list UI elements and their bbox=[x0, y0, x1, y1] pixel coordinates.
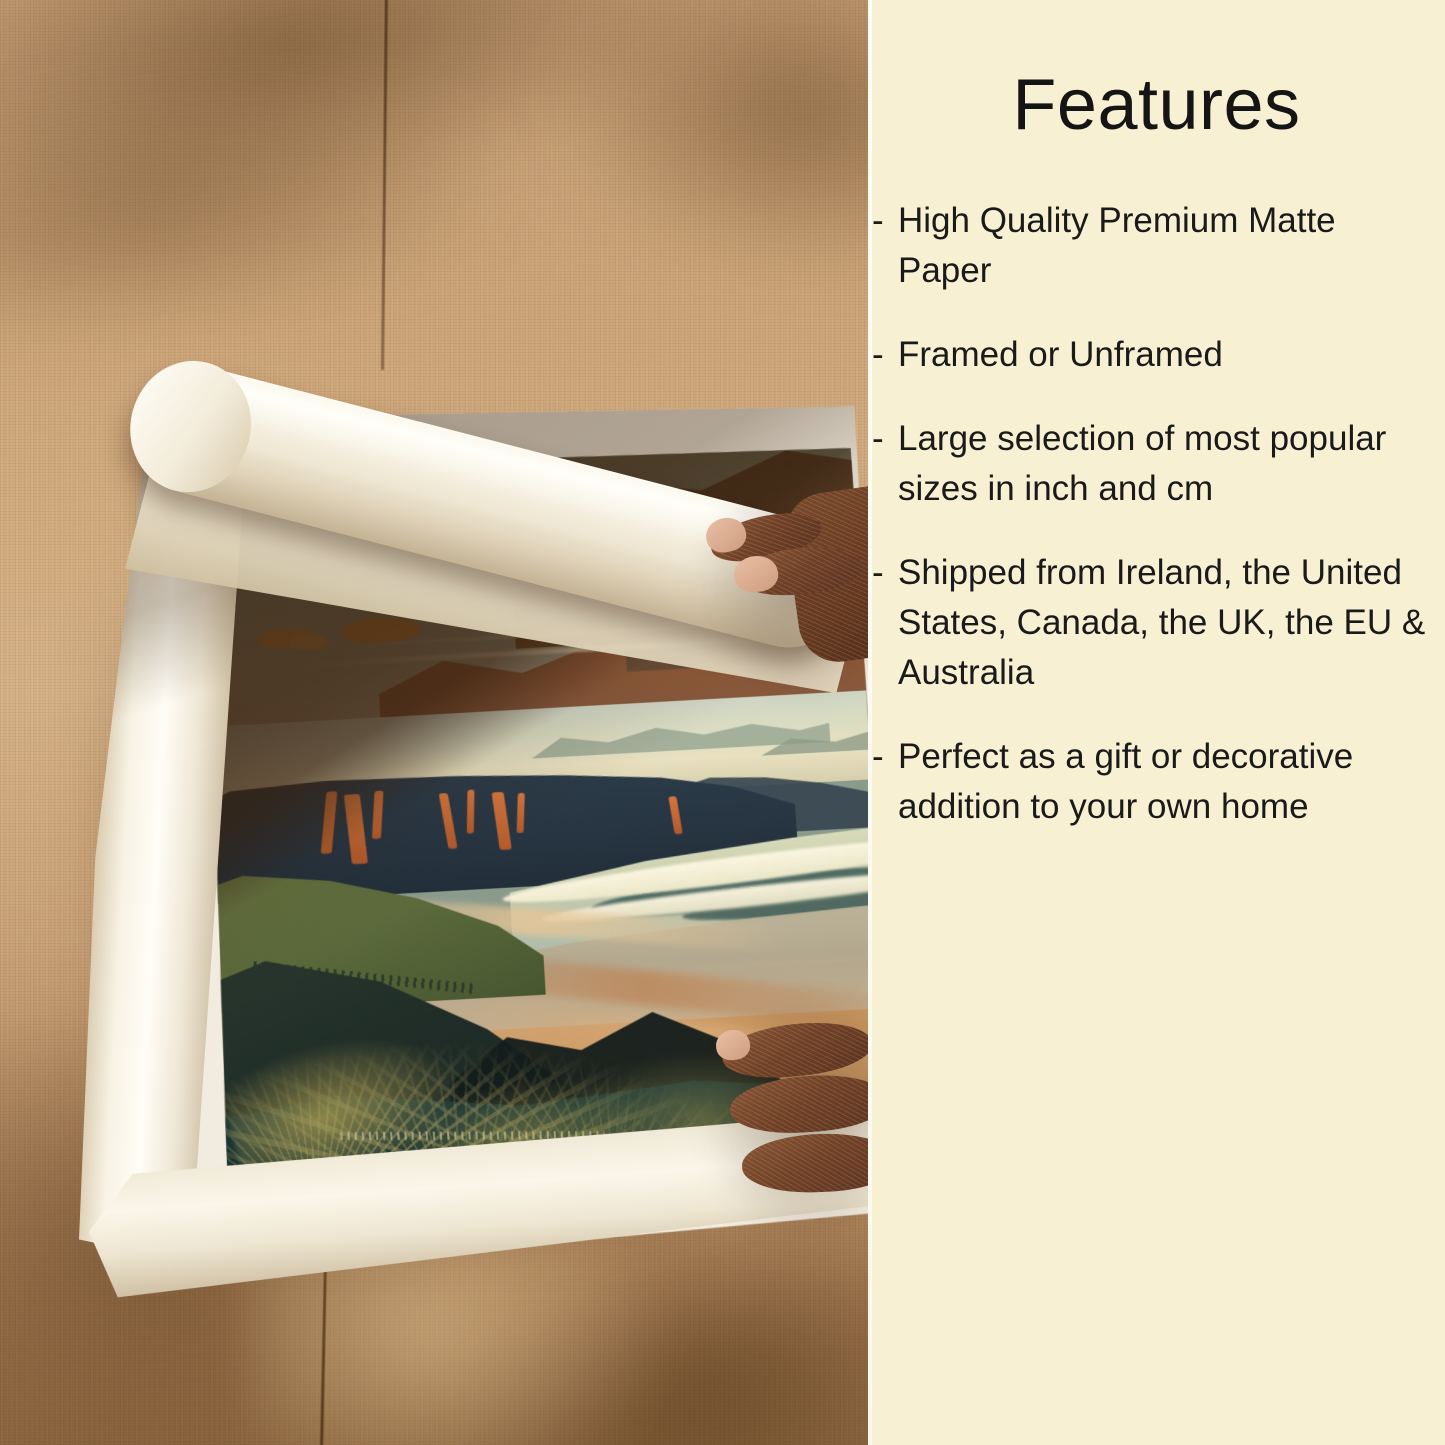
feature-item-label: Shipped from Ireland, the United States,… bbox=[898, 548, 1438, 698]
feature-item-paper: - High Quality Premium Matte Paper bbox=[872, 196, 1438, 296]
bullet-dash-icon: - bbox=[872, 196, 898, 246]
artwork-cliff-stripe bbox=[467, 790, 475, 834]
feature-item-shipping: - Shipped from Ireland, the United State… bbox=[872, 548, 1438, 698]
feature-item-label: Large selection of most popular sizes in… bbox=[898, 414, 1438, 514]
lower-hand-finger-b bbox=[728, 1071, 868, 1138]
upper-hand bbox=[706, 480, 868, 670]
feature-item-framing: - Framed or Unframed bbox=[872, 330, 1438, 380]
feature-item-gift: - Perfect as a gift or decorative additi… bbox=[872, 732, 1438, 832]
feature-item-label: High Quality Premium Matte Paper bbox=[898, 196, 1438, 296]
bullet-dash-icon: - bbox=[872, 548, 898, 598]
features-title: Features bbox=[868, 64, 1445, 146]
skin-texture bbox=[728, 1071, 868, 1138]
artwork-cliff-stripe bbox=[517, 793, 525, 833]
feature-item-label: Framed or Unframed bbox=[898, 330, 1438, 380]
product-listing-image: Features - High Quality Premium Matte Pa… bbox=[0, 0, 1445, 1445]
features-panel: Features - High Quality Premium Matte Pa… bbox=[868, 0, 1445, 1445]
feature-item-sizes: - Large selection of most popular sizes … bbox=[872, 414, 1438, 514]
bullet-dash-icon: - bbox=[872, 414, 898, 464]
bullet-dash-icon: - bbox=[872, 330, 898, 380]
features-list: - High Quality Premium Matte Paper - Fra… bbox=[872, 196, 1438, 866]
lower-hand-finger-c bbox=[741, 1131, 868, 1194]
lower-hand bbox=[716, 1000, 868, 1230]
product-photo bbox=[0, 0, 868, 1445]
skin-texture bbox=[741, 1131, 868, 1194]
feature-item-label: Perfect as a gift or decorative addition… bbox=[898, 732, 1438, 832]
bullet-dash-icon: - bbox=[872, 732, 898, 782]
